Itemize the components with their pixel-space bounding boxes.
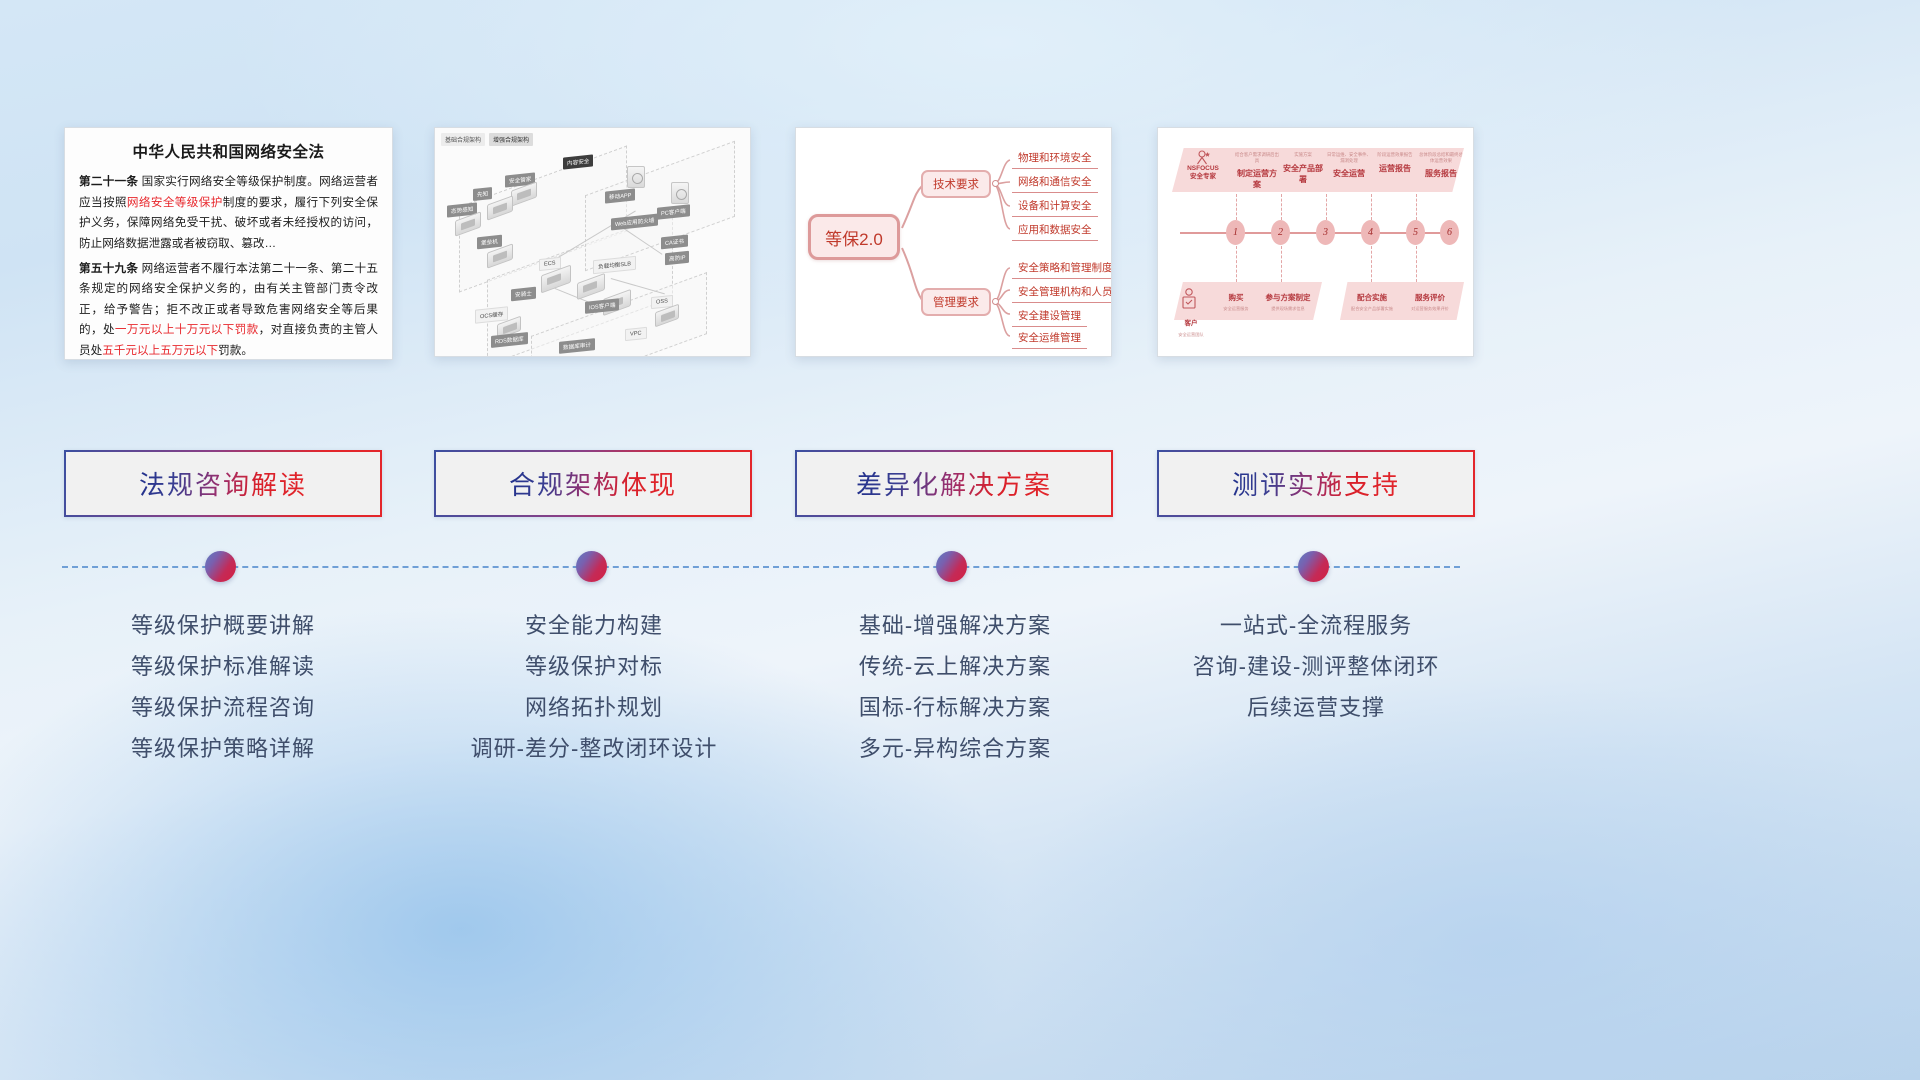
chip-ca-cert: CA证书 <box>661 235 688 250</box>
bullet-3-3: 国标-行标解决方案 <box>775 687 1135 728</box>
service-flow: NSFOCUS 安全专家 结合客户需求调研后出具 制定运营方案 实施方案 安全产… <box>1158 128 1473 356</box>
law-title: 中华人民共和国网络安全法 <box>79 140 378 162</box>
service-step-2-title: 安全产品部署 <box>1280 163 1326 185</box>
dash-to-bottom-1 <box>1236 246 1237 282</box>
device-pc-client <box>671 182 689 204</box>
mindmap-leaf-app-data: 应用和数据安全 <box>1012 220 1098 241</box>
card-service-timeline: NSFOCUS 安全专家 结合客户需求调研后出具 制定运营方案 实施方案 安全产… <box>1157 127 1474 357</box>
mindmap: 等保2.0 技术要求 物理和环境安全 网络和通信安全 设备和计算安全 应用和数据… <box>796 128 1111 356</box>
headline-box-1[interactable]: 法规咨询解读 <box>64 450 382 517</box>
article-59-highlight-1: 一万元以上十万元以下罚款 <box>115 323 259 336</box>
headline-label-2: 合规架构体现 <box>509 465 677 502</box>
service-node-3: 3 <box>1316 220 1335 245</box>
article-59-text-3: 罚款。 <box>218 344 253 357</box>
customer-label: 客户 安全运营团队 <box>1176 312 1206 338</box>
bullet-4-3: 后续运营支撑 <box>1136 687 1496 728</box>
headline-label-3: 差异化解决方案 <box>856 465 1052 502</box>
tab-basic-architecture[interactable]: 基础合规架构 <box>441 133 485 146</box>
bullet-2-3: 网络拓扑规划 <box>414 687 774 728</box>
customer-step-4-title: 服务评价 <box>1402 292 1458 303</box>
customer-step-2-sub: 提供现场需求信息 <box>1258 306 1318 312</box>
customer-step-3: 配合实施 配合安全产品部署实施 <box>1344 292 1400 312</box>
service-step-4: 阶段运营效果报告 运营报告 <box>1372 148 1418 174</box>
mindmap-leaf-device-compute: 设备和计算安全 <box>1012 196 1098 217</box>
service-node-4: 4 <box>1361 220 1380 245</box>
mindmap-leaf-physical-env: 物理和环境安全 <box>1012 148 1098 169</box>
customer-step-2-title: 参与方案制定 <box>1258 292 1318 303</box>
mindmap-branch-technical: 技术要求 <box>921 170 991 198</box>
card-cybersecurity-law: 中华人民共和国网络安全法 第二十一条 国家实行网络安全等级保护制度。网络运营者应… <box>64 127 393 360</box>
mindmap-branch-management: 管理要求 <box>921 288 991 316</box>
timeline-dashed-line <box>62 566 1460 568</box>
bullet-1-2: 等级保护标准解读 <box>43 646 403 687</box>
timeline-dot-1[interactable] <box>205 551 236 582</box>
customer-sub: 安全运营团队 <box>1176 332 1206 338</box>
headline-box-4[interactable]: 测评实施支持 <box>1157 450 1475 517</box>
mindmap-node-dot-management <box>992 298 999 305</box>
nsfocus-expert: NSFOCUS 安全专家 <box>1172 148 1234 182</box>
bullet-1-1: 等级保护概要讲解 <box>43 605 403 646</box>
mindmap-leaf-construction-mgmt: 安全建设管理 <box>1012 306 1087 327</box>
article-21-highlight: 网络安全等级保护 <box>127 196 223 209</box>
service-step-1: 结合客户需求调研后出具 制定运营方案 <box>1234 148 1280 190</box>
bullet-1-4: 等级保护策略详解 <box>43 728 403 769</box>
service-step-2-sub: 实施方案 <box>1280 152 1326 158</box>
dash-to-node-2 <box>1281 194 1282 220</box>
bullet-4-1: 一站式-全流程服务 <box>1136 605 1496 646</box>
bullet-1-3: 等级保护流程咨询 <box>43 687 403 728</box>
mindmap-node-dot-technical <box>992 180 999 187</box>
article-21-label: 第二十一条 <box>79 175 138 188</box>
bullet-3-1: 基础-增强解决方案 <box>775 605 1135 646</box>
timeline-dot-4[interactable] <box>1298 551 1329 582</box>
architecture-tabs: 基础合规架构 增强合规架构 <box>441 133 533 146</box>
dash-to-bottom-2 <box>1281 246 1282 282</box>
headline-label-1: 法规咨询解读 <box>139 465 307 502</box>
expert-avatar-icon <box>1195 150 1211 165</box>
mindmap-leaf-ops-mgmt: 安全运维管理 <box>1012 328 1087 349</box>
customer-step-3-title: 配合实施 <box>1344 292 1400 303</box>
service-node-6: 6 <box>1440 220 1459 245</box>
bullet-column-3: 基础-增强解决方案 传统-云上解决方案 国标-行标解决方案 多元-异构综合方案 <box>775 605 1135 769</box>
bullet-2-2: 等级保护对标 <box>414 646 774 687</box>
dash-to-node-1 <box>1236 194 1237 220</box>
law-body: 中华人民共和国网络安全法 第二十一条 国家实行网络安全等级保护制度。网络运营者应… <box>65 128 392 360</box>
tab-enhanced-architecture[interactable]: 增强合规架构 <box>489 133 533 146</box>
customer-avatar-icon <box>1180 288 1198 310</box>
service-step-4-title: 运营报告 <box>1372 163 1418 174</box>
service-step-5-sub: 总体阶段总结和最终总体运营效果 <box>1418 152 1464 163</box>
service-step-4-sub: 阶段运营效果报告 <box>1372 152 1418 158</box>
chip-anti-ddos-ip: 高防IP <box>665 251 689 266</box>
timeline-dot-2[interactable] <box>576 551 607 582</box>
architecture-diagram: 基础合规架构 增强合规架构 内容安全 安全管家 先知 态势感知 堡垒机 <box>435 128 750 356</box>
customer-step-2: 参与方案制定 提供现场需求信息 <box>1258 292 1318 312</box>
service-step-1-sub: 结合客户需求调研后出具 <box>1234 152 1280 163</box>
service-step-3-sub: 日常运维、安全事件、漏洞处理 <box>1326 152 1372 163</box>
service-step-3-title: 安全运营 <box>1326 168 1372 179</box>
timeline-dot-3[interactable] <box>936 551 967 582</box>
bullet-4-2: 咨询-建设-测评整体闭环 <box>1136 646 1496 687</box>
service-step-2: 实施方案 安全产品部署 <box>1280 148 1326 185</box>
bullet-2-1: 安全能力构建 <box>414 605 774 646</box>
bullet-3-4: 多元-异构综合方案 <box>775 728 1135 769</box>
service-step-5-title: 服务报告 <box>1418 168 1464 179</box>
dash-to-bottom-3 <box>1371 246 1372 282</box>
service-step-5: 总体阶段总结和最终总体运营效果 服务报告 <box>1418 148 1464 179</box>
mindmap-leaf-org-personnel: 安全管理机构和人员 <box>1012 282 1112 303</box>
chip-xianzhi: 先知 <box>473 187 492 201</box>
chip-vpc: VPC <box>625 327 647 341</box>
card-mindmap-dengbao: 等保2.0 技术要求 物理和环境安全 网络和通信安全 设备和计算安全 应用和数据… <box>795 127 1112 357</box>
bullet-column-4: 一站式-全流程服务 咨询-建设-测评整体闭环 后续运营支撑 <box>1136 605 1496 728</box>
headline-label-4: 测评实施支持 <box>1232 465 1400 502</box>
service-node-2: 2 <box>1271 220 1290 245</box>
dash-to-bottom-4 <box>1416 246 1417 282</box>
device-mobile-app <box>627 166 645 188</box>
service-step-1-title: 制定运营方案 <box>1234 168 1280 190</box>
slide-canvas: 中华人民共和国网络安全法 第二十一条 国家实行网络安全等级保护制度。网络运营者应… <box>0 0 1920 1080</box>
customer-step-3-sub: 配合安全产品部署实施 <box>1344 306 1400 312</box>
dash-to-node-3 <box>1326 194 1327 220</box>
article-59-highlight-2: 五千元以上五万元以下 <box>102 344 218 357</box>
bullet-column-1: 等级保护概要讲解 等级保护标准解读 等级保护流程咨询 等级保护策略详解 <box>43 605 403 769</box>
article-59-label: 第五十九条 <box>79 262 138 275</box>
mindmap-leaf-network-comm: 网络和通信安全 <box>1012 172 1098 193</box>
service-step-3: 日常运维、安全事件、漏洞处理 安全运营 <box>1326 148 1372 179</box>
mindmap-leaf-policy-system: 安全策略和管理制度 <box>1012 258 1112 279</box>
service-top-band: NSFOCUS 安全专家 结合客户需求调研后出具 制定运营方案 实施方案 安全产… <box>1172 148 1464 192</box>
headline-box-3[interactable]: 差异化解决方案 <box>795 450 1113 517</box>
bullet-column-2: 安全能力构建 等级保护对标 网络拓扑规划 调研-差分-整改闭环设计 <box>414 605 774 769</box>
nsfocus-role: 安全专家 <box>1172 173 1234 181</box>
dash-to-node-5 <box>1416 194 1417 220</box>
customer-step-1-sub: 安全运营服务 <box>1212 306 1260 312</box>
customer-role: 客户 <box>1185 320 1198 327</box>
headline-box-2[interactable]: 合规架构体现 <box>434 450 752 517</box>
customer-step-1-title: 购买 <box>1212 292 1260 303</box>
customer-step-4-sub: 对运营服务效果评价 <box>1402 306 1458 312</box>
card-cloud-architecture: 基础合规架构 增强合规架构 内容安全 安全管家 先知 态势感知 堡垒机 <box>434 127 751 357</box>
service-node-1: 1 <box>1226 220 1245 245</box>
customer-step-4: 服务评价 对运营服务效果评价 <box>1402 292 1458 312</box>
dash-to-node-4 <box>1371 194 1372 220</box>
bullet-3-2: 传统-云上解决方案 <box>775 646 1135 687</box>
service-node-5: 5 <box>1406 220 1425 245</box>
law-article-59: 第五十九条 网络运营者不履行本法第二十一条、第二十五条规定的网络安全保护义务的，… <box>79 259 378 361</box>
law-article-21: 第二十一条 国家实行网络安全等级保护制度。网络运营者应当按照网络安全等级保护制度… <box>79 172 378 255</box>
bullet-2-4: 调研-差分-整改闭环设计 <box>414 728 774 769</box>
customer-step-1: 购买 安全运营服务 <box>1212 292 1260 312</box>
